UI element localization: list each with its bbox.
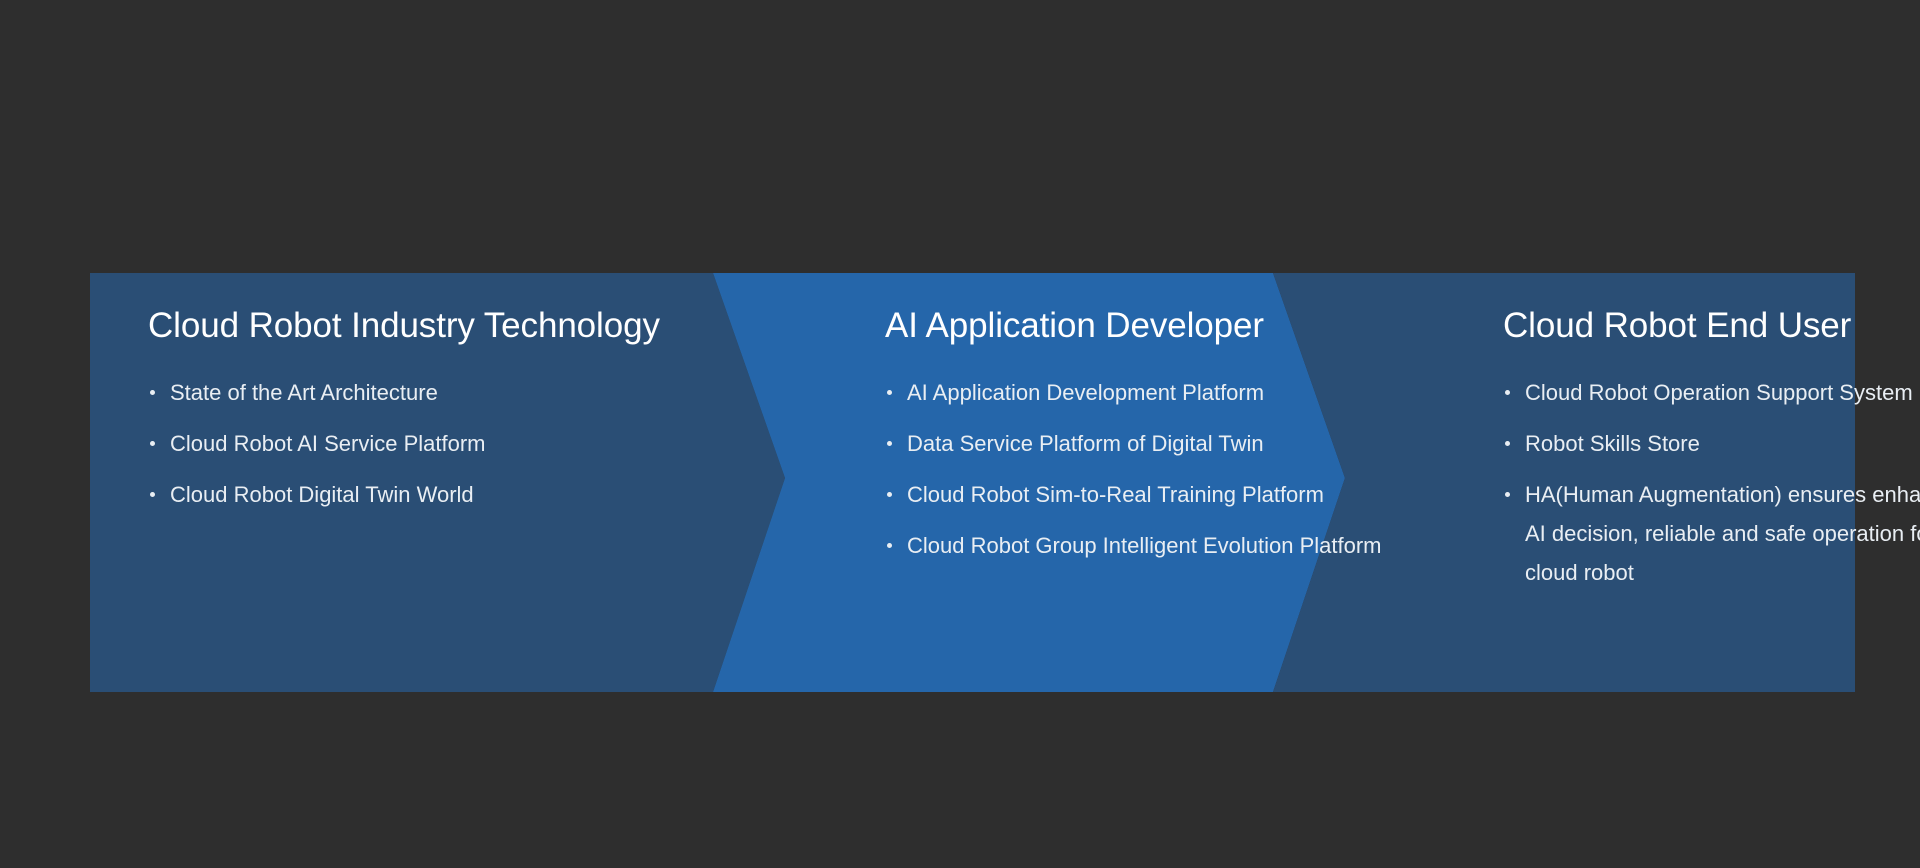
list-item: Data Service Platform of Digital Twin	[885, 424, 1405, 463]
bullet-dot-icon	[887, 390, 892, 395]
panel-3-bullet-list: Cloud Robot Operation Support System Rob…	[1503, 373, 1920, 604]
list-item: Cloud Robot AI Service Platform	[148, 424, 748, 463]
bullet-text: Cloud Robot Group Intelligent Evolution …	[907, 526, 1405, 565]
panel-ai-application-developer: AI Application Developer AI Application …	[790, 273, 1410, 692]
panel-3-heading: Cloud Robot End User	[1503, 305, 1851, 347]
bullet-text: State of the Art Architecture	[170, 373, 748, 412]
bullet-text: AI Application Development Platform	[907, 373, 1405, 412]
bullet-text: Cloud Robot Digital Twin World	[170, 475, 748, 514]
bullet-text: Robot Skills Store	[1525, 424, 1920, 463]
bullet-dot-icon	[887, 441, 892, 446]
bullet-dot-icon	[1505, 441, 1510, 446]
panel-cloud-robot-industry-technology: Cloud Robot Industry Technology State of…	[90, 273, 790, 692]
bullet-dot-icon	[887, 543, 892, 548]
list-item: AI Application Development Platform	[885, 373, 1405, 412]
bullet-dot-icon	[1505, 390, 1510, 395]
bullet-text: Cloud Robot AI Service Platform	[170, 424, 748, 463]
chevron-banner: Cloud Robot Industry Technology State of…	[90, 273, 1855, 692]
list-item: Cloud Robot Operation Support System	[1503, 373, 1920, 412]
panel-1-bullet-list: State of the Art Architecture Cloud Robo…	[148, 373, 748, 526]
list-item: HA(Human Augmentation) ensures enhanced …	[1503, 475, 1920, 592]
bullet-dot-icon	[1505, 492, 1510, 497]
list-item: Cloud Robot Group Intelligent Evolution …	[885, 526, 1405, 565]
list-item: Cloud Robot Sim-to-Real Training Platfor…	[885, 475, 1405, 514]
bullet-dot-icon	[150, 492, 155, 497]
bullet-text: HA(Human Augmentation) ensures enhanced …	[1525, 475, 1920, 592]
bullet-text: Cloud Robot Operation Support System	[1525, 373, 1920, 412]
panel-2-bullet-list: AI Application Development Platform Data…	[885, 373, 1405, 577]
bullet-dot-icon	[150, 441, 155, 446]
bullet-text: Data Service Platform of Digital Twin	[907, 424, 1405, 463]
bullet-text: Cloud Robot Sim-to-Real Training Platfor…	[907, 475, 1405, 514]
panel-content-layer: Cloud Robot Industry Technology State of…	[90, 273, 1855, 692]
panel-1-heading: Cloud Robot Industry Technology	[148, 305, 660, 347]
list-item: Robot Skills Store	[1503, 424, 1920, 463]
bullet-dot-icon	[887, 492, 892, 497]
list-item: State of the Art Architecture	[148, 373, 748, 412]
list-item: Cloud Robot Digital Twin World	[148, 475, 748, 514]
bullet-dot-icon	[150, 390, 155, 395]
panel-2-heading: AI Application Developer	[885, 305, 1264, 347]
panel-cloud-robot-end-user: Cloud Robot End User Cloud Robot Operati…	[1410, 273, 1855, 692]
